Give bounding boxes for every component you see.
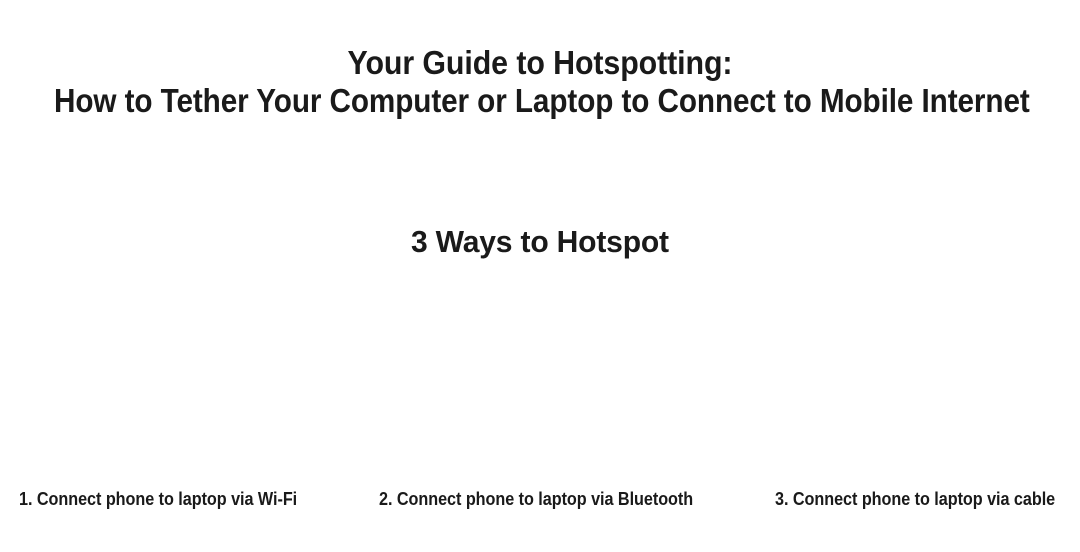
method-caption-cable: 3. Connect phone to laptop via cable [775,487,1055,511]
page-title: Your Guide to Hotspotting: How to Tether… [0,44,1080,120]
method-caption-wifi: 1. Connect phone to laptop via Wi-Fi [19,487,297,511]
illustration-row [0,278,1080,474]
page-title-line-2: How to Tether Your Computer or Laptop to… [54,82,1026,120]
illustration-slot-bluetooth [360,278,720,474]
illustration-slot-cable [720,278,1080,474]
section-heading: 3 Ways to Hotspot [0,222,1080,262]
infographic-page: Your Guide to Hotspotting: How to Tether… [0,0,1080,552]
caption-row: 1. Connect phone to laptop via Wi-Fi 2. … [0,487,1080,513]
method-caption-bluetooth: 2. Connect phone to laptop via Bluetooth [379,487,693,511]
section-heading-label: 3 Ways to Hotspot [411,222,669,262]
page-title-line-1: Your Guide to Hotspotting: [43,44,1037,82]
illustration-slot-wifi [0,278,360,474]
